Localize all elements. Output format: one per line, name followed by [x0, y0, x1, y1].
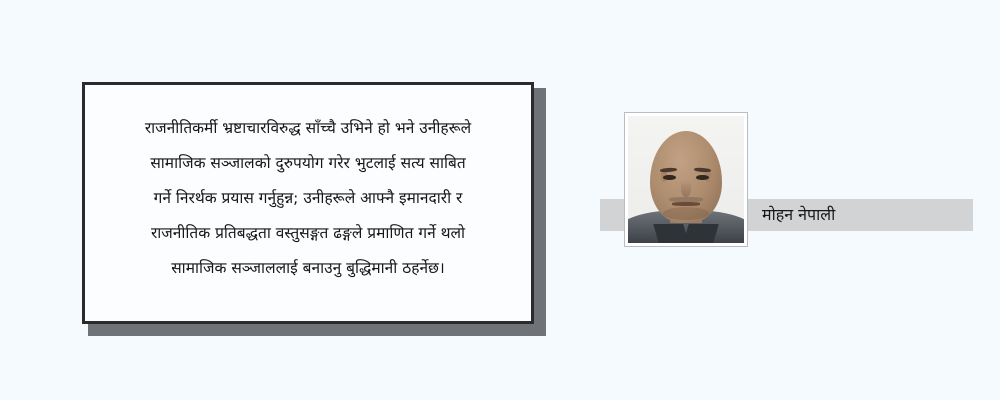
quote-line-2: सामाजिक सञ्जालको दुरुपयोग गरेर भुटलाई सत…	[150, 146, 465, 181]
portrait-collar-right	[683, 224, 719, 243]
author-portrait-frame	[624, 112, 748, 247]
portrait-nose	[681, 180, 690, 198]
quote-line-5: सामाजिक सञ्जाललाई बनाउनु बुद्धिमानी ठहर्…	[171, 251, 445, 286]
portrait-mustache	[669, 197, 704, 202]
quote-card: राजनीतिकर्मी भ्रष्टाचारविरुद्ध साँच्चै उ…	[82, 82, 534, 324]
author-portrait-photo	[628, 116, 744, 243]
quote-line-3: गर्ने निरर्थक प्रयास गर्नुहुन्न; उनीहरूल…	[154, 181, 463, 216]
quote-line-4: राजनीतिक प्रतिबद्धता वस्तुसङ्गत ढङ्गले प…	[151, 216, 465, 251]
author-name: मोहन नेपाली	[762, 199, 962, 231]
quote-text-block: राजनीतिकर्मी भ्रष्टाचारविरुद्ध साँच्चै उ…	[85, 85, 531, 321]
quote-line-1: राजनीतिकर्मी भ्रष्टाचारविरुद्ध साँच्चै उ…	[145, 111, 471, 146]
portrait-mouth	[672, 202, 700, 205]
